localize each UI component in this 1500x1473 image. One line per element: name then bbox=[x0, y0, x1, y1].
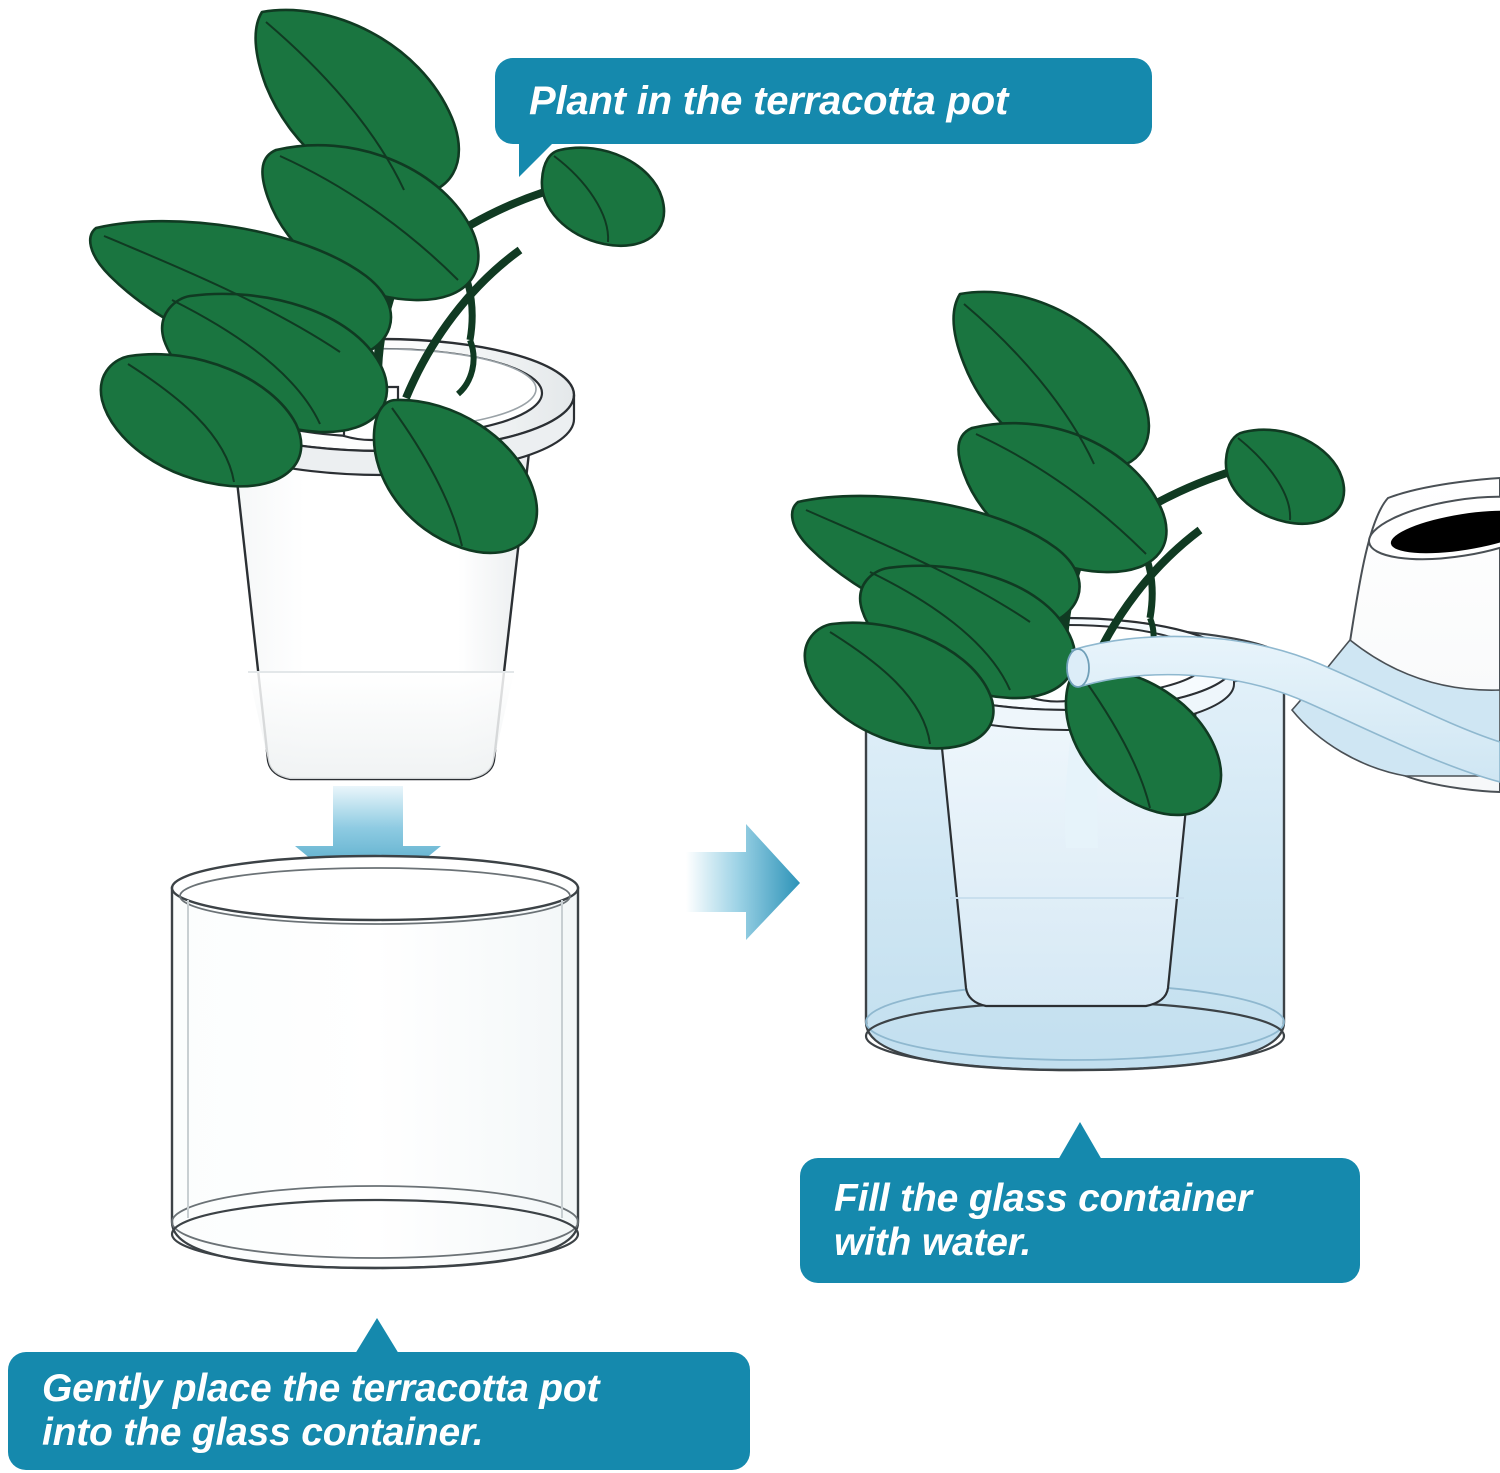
glass-container-empty-icon bbox=[172, 856, 578, 1268]
callout-place-text: Gently place the terracotta pot into the… bbox=[42, 1367, 599, 1454]
callout-plant-in-pot[interactable]: Plant in the terracotta pot bbox=[495, 58, 1152, 144]
callout-fill-text: Fill the glass container with water. bbox=[834, 1177, 1252, 1264]
callout-fill-tail bbox=[1058, 1122, 1102, 1160]
callout-fill-water[interactable]: Fill the glass container with water. bbox=[800, 1158, 1360, 1283]
leaf-vine-tip bbox=[542, 148, 664, 246]
illustration-stage: Plant in the terracotta pot Gently place… bbox=[0, 0, 1500, 1473]
right-arrow-icon bbox=[686, 824, 800, 940]
pot-body-lower-shade bbox=[248, 672, 514, 779]
glass-body bbox=[172, 888, 578, 1268]
glass-rim-outer bbox=[172, 856, 578, 920]
callout-place-pot[interactable]: Gently place the terracotta pot into the… bbox=[8, 1352, 750, 1470]
callout-place-tail bbox=[355, 1318, 399, 1354]
callout-plant-text: Plant in the terracotta pot bbox=[529, 79, 1008, 124]
step-fill-with-water bbox=[792, 292, 1500, 1070]
water-pour-spout-opening bbox=[1067, 649, 1089, 687]
callout-plant-tail bbox=[519, 143, 553, 177]
